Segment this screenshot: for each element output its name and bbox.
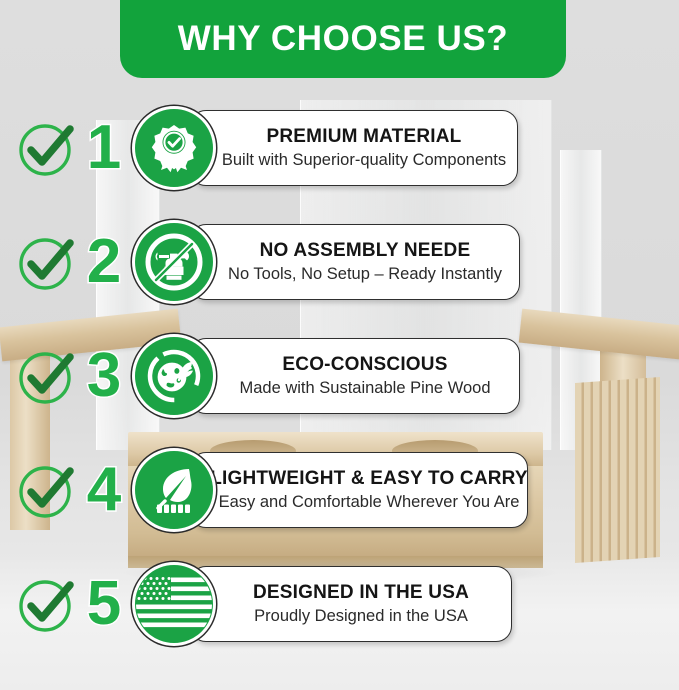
check-circle-icon — [16, 117, 78, 179]
feature-number: 5 — [78, 573, 130, 635]
infographic-stage: WHY CHOOSE US? 1 PREMIUM — [0, 0, 679, 690]
feature-number: 4 — [78, 459, 130, 521]
no-assembly-icon — [132, 220, 216, 304]
feature-number: 2 — [78, 231, 130, 293]
feature-row-1: 1 PREMIUM MATERIAL Built with Superior-q… — [0, 104, 518, 192]
feature-title: ECO-CONSCIOUS — [282, 354, 447, 376]
feature-subtitle: Proudly Designed in the USA — [254, 607, 468, 626]
wood-slats — [575, 377, 660, 563]
check-circle-icon — [16, 573, 78, 635]
feature-subtitle: Built with Superior-quality Components — [222, 151, 506, 170]
feature-title: DESIGNED IN THE USA — [253, 582, 469, 604]
award-badge-icon — [132, 106, 216, 190]
feature-card: NO ASSEMBLY NEEDE No Tools, No Setup – R… — [190, 224, 520, 300]
eco-globe-icon — [132, 334, 216, 418]
feature-row-4: 4 LIGHTWEIGHT & EASY TO CARRY Ea — [0, 446, 528, 534]
feature-subtitle: Easy and Comfortable Wherever You Are — [219, 493, 520, 512]
check-circle-icon — [16, 345, 78, 407]
feature-title: PREMIUM MATERIAL — [267, 126, 462, 148]
feature-row-3: 3 ECO-C — [0, 332, 520, 420]
check-circle-icon — [16, 231, 78, 293]
feature-number: 3 — [78, 345, 130, 407]
feature-card: LIGHTWEIGHT & EASY TO CARRY Easy and Com… — [190, 452, 528, 528]
feature-card: DESIGNED IN THE USA Proudly Designed in … — [190, 566, 512, 642]
feature-number: 1 — [78, 117, 130, 179]
feature-card: ECO-CONSCIOUS Made with Sustainable Pine… — [190, 338, 520, 414]
feature-row-5: 5 — [0, 560, 512, 648]
feature-title: LIGHTWEIGHT & EASY TO CARRY — [210, 468, 528, 490]
header-banner: WHY CHOOSE US? — [120, 0, 566, 78]
feature-title: NO ASSEMBLY NEEDE — [260, 240, 471, 262]
feature-subtitle: Made with Sustainable Pine Wood — [239, 379, 490, 398]
feature-card: PREMIUM MATERIAL Built with Superior-qua… — [190, 110, 518, 186]
usa-flag-icon — [132, 562, 216, 646]
check-circle-icon — [16, 459, 78, 521]
feather-mattress-icon — [132, 448, 216, 532]
feature-row-2: 2 — [0, 218, 520, 306]
feature-subtitle: No Tools, No Setup – Ready Instantly — [228, 265, 502, 284]
page-title: WHY CHOOSE US? — [178, 19, 509, 59]
